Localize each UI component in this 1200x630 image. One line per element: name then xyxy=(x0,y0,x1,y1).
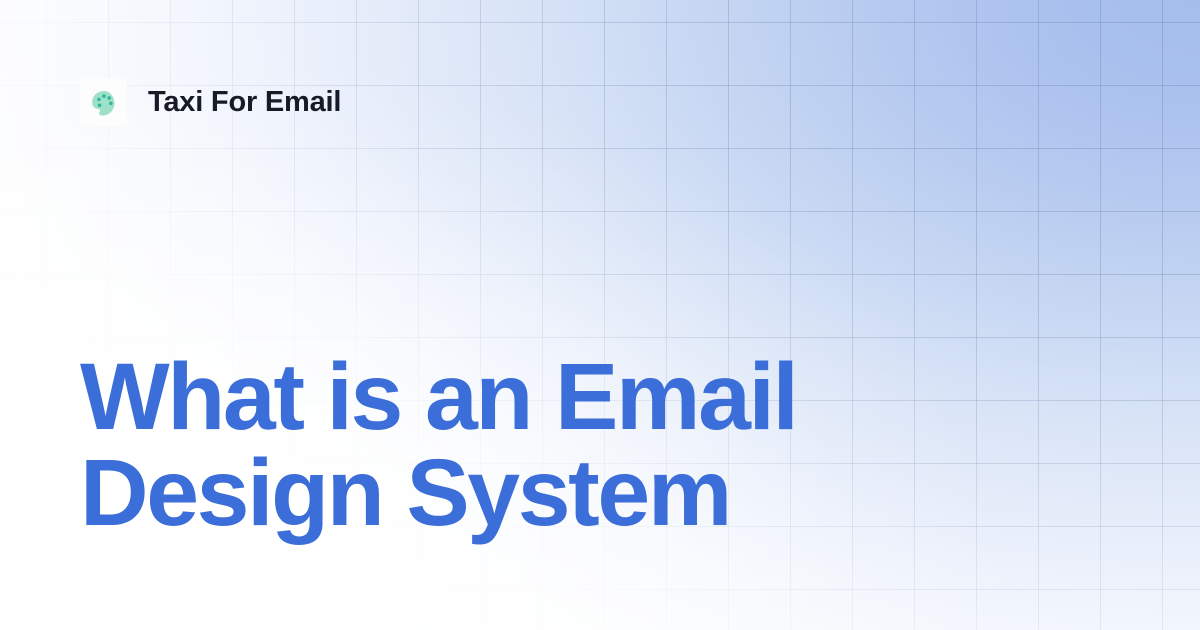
brand-lockup: Taxi For Email xyxy=(80,79,341,126)
page-title: What is an Email Design System xyxy=(80,349,1080,541)
brand-logo-tile xyxy=(80,79,127,126)
brand-name: Taxi For Email xyxy=(148,88,341,117)
palette-icon xyxy=(89,88,119,118)
page-title-line-2: Design System xyxy=(80,445,1080,541)
page-title-line-1: What is an Email xyxy=(80,349,1080,445)
og-share-card: Taxi For Email What is an Email Design S… xyxy=(0,0,1200,630)
